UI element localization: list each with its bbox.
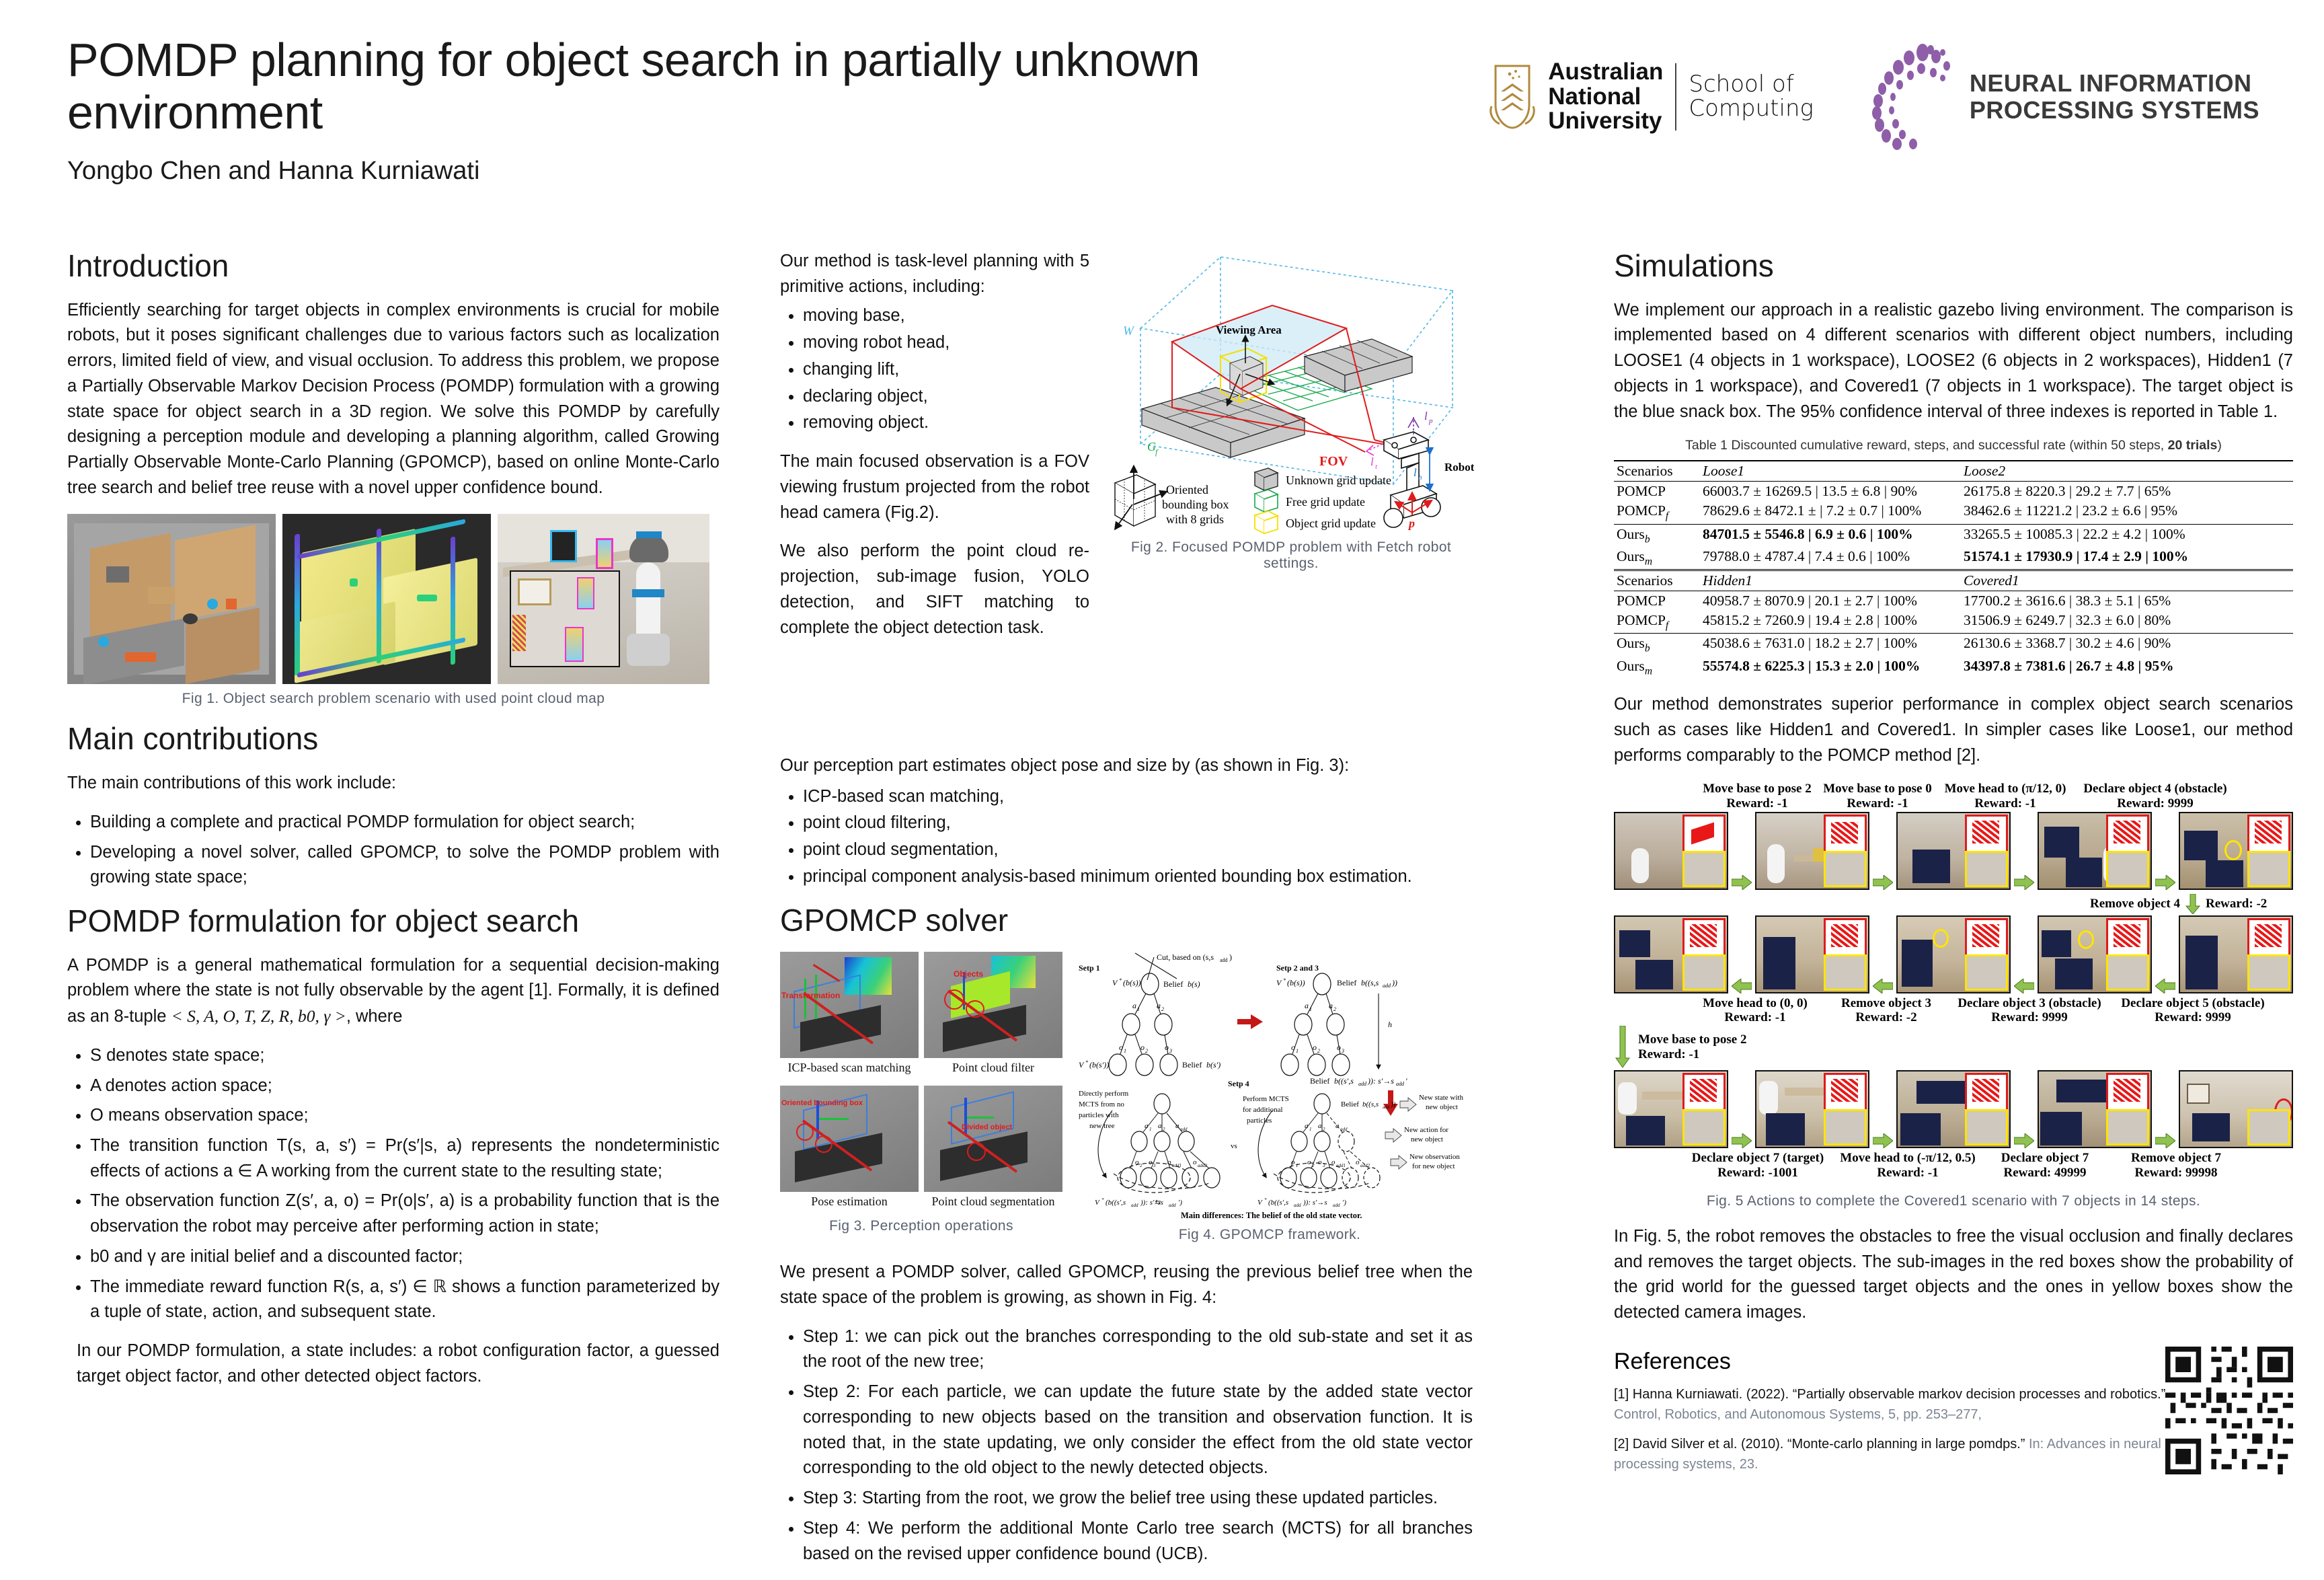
fig2-fov-label: FOV (1319, 454, 1348, 469)
svg-text:′): ′) (1178, 1199, 1182, 1207)
svg-text:p: p (1428, 417, 1433, 425)
belief-grid-inset (1682, 918, 1726, 957)
fig5-frame (1614, 812, 1728, 890)
svg-text:o: o (1140, 1043, 1145, 1052)
neurips-mark-icon (1861, 43, 1962, 151)
camera-image-inset (2106, 851, 2149, 887)
table-1-title: Table 1 Discounted cumulative reward, st… (1614, 438, 2293, 453)
svg-text:3: 3 (1169, 1048, 1172, 1054)
svg-text:o: o (1313, 1043, 1317, 1052)
list-item: moving robot head, (803, 330, 1089, 356)
fig2-obb-line-1: Oriented (1166, 483, 1208, 496)
figure-2-caption: Fig 2. Focused POMDP problem with Fetch … (1103, 539, 1479, 572)
svg-text:o: o (1318, 1158, 1322, 1166)
fig5-frame (1896, 812, 2011, 890)
svg-text:(b(s)): (b(s)) (1287, 978, 1305, 987)
fig5-label-r1c3: Move head to (π/12, 0) Reward: -1 (1935, 782, 2076, 811)
fig4-right-note-2: for additional (1243, 1106, 1283, 1114)
table-row-method: Oursm (1614, 547, 1700, 570)
results-table: Scenarios Loose1 Loose2 POMCP 66003.7 ± … (1614, 460, 2293, 679)
flow-arrow-icon (1732, 979, 1752, 993)
introduction-text: Efficiently searching for target objects… (67, 298, 720, 501)
fig5-row-2 (1614, 915, 2293, 993)
svg-text:o: o (1165, 1043, 1169, 1052)
solver-lead-text: We present a POMDP solver, called GPOMCP… (780, 1260, 1473, 1310)
svg-text:o: o (1193, 1158, 1197, 1166)
camera-image-inset (1965, 954, 2008, 991)
svg-text:add: add (1180, 1127, 1188, 1132)
fig2-obb-line-3: with 8 grids (1166, 513, 1224, 526)
svg-text:o: o (1119, 1043, 1123, 1052)
table-cell: 78629.6 ± 8472.1 ± | 7.2 ± 0.7 | 100% (1700, 501, 1961, 524)
table-row-method: POMCPf (1614, 501, 1700, 524)
list-item: The immediate reward function R(s, a, s′… (90, 1275, 720, 1325)
list-item: point cloud filtering, (803, 811, 1473, 836)
table-header-loose2: Loose2 (1961, 461, 2293, 482)
table-title-a: Table 1 Discounted cumulative reward, st… (1685, 438, 2164, 453)
svg-text:V: V (1112, 978, 1118, 987)
anu-line-2: National (1548, 85, 1663, 109)
svg-text:b(s): b(s) (1188, 979, 1200, 989)
flow-arrow-icon (2014, 1133, 2034, 1148)
fig1-panel-gazebo (67, 514, 276, 684)
figure-5-discussion-text: In Fig. 5, the robot removes the obstacl… (1614, 1224, 2293, 1326)
svg-text:a: a (1305, 1122, 1309, 1130)
flow-arrow-icon (1873, 875, 1893, 890)
camera-image-inset (1682, 851, 1726, 887)
logo-row: Australian National University School of… (1487, 43, 2259, 151)
table-cell: 79788.0 ± 4787.4 | 7.4 ± 0.6 | 100% (1700, 547, 1961, 570)
svg-text:V: V (1257, 1199, 1263, 1207)
figure-1-caption: Fig 1. Object search problem scenario wi… (67, 691, 720, 707)
svg-text:V: V (1095, 1199, 1100, 1207)
svg-text:2: 2 (1312, 1163, 1315, 1168)
table-cell: 33265.5 ± 10085.3 | 22.2 ± 4.2 | 100% (1961, 524, 2293, 547)
list-item: Step 2: For each particle, we can update… (803, 1380, 1473, 1481)
fig5-label-r3c3: Declare object 7 Reward: 49999 (1984, 1151, 2105, 1180)
flow-arrow-icon (1873, 1133, 1893, 1148)
fig5-frame (1755, 812, 1869, 890)
svg-text:a: a (1335, 1122, 1340, 1130)
belief-grid-inset (2247, 918, 2290, 957)
table-header-scenarios-2: Scenarios (1614, 570, 1700, 591)
svg-text:h: h (1418, 474, 1422, 482)
svg-text:(b((s′,s: (b((s′,s (1106, 1199, 1126, 1207)
svg-text:o: o (1291, 1158, 1295, 1166)
svg-text:o: o (1337, 1043, 1341, 1052)
fig3-panel-icp: Transformation (780, 952, 919, 1058)
list-item: declaring object, (803, 384, 1089, 410)
fig5-label-r2c1: Move head to (0, 0) Reward: -1 (1688, 996, 1822, 1025)
table-row-method: POMCP (1614, 591, 1700, 611)
svg-text:o: o (1167, 1158, 1171, 1166)
belief-grid-inset (1824, 815, 1867, 854)
table-cell: 84701.5 ± 5546.8 | 6.9 ± 0.6 | 100% (1700, 524, 1961, 547)
poster-header: POMDP planning for object search in part… (67, 34, 2259, 209)
fig5-frame (2179, 915, 2293, 993)
table-cell: 45038.6 ± 7631.0 | 18.2 ± 2.7 | 100% (1700, 634, 1961, 656)
svg-text:2: 2 (1317, 1048, 1320, 1054)
fig5-frame (1614, 915, 1728, 993)
fig5-label-r2c3: Declare object 3 (obstacle) Reward: 9999 (1950, 996, 2109, 1025)
list-item: b0 and γ are initial belief and a discou… (90, 1244, 720, 1270)
anu-logo: Australian National University School of… (1487, 60, 1814, 133)
svg-text:add: add (1169, 1203, 1176, 1208)
right-column: Simulations We implement our approach in… (1614, 249, 2293, 1484)
fig4-step4-label: Setp 4 (1228, 1079, 1249, 1088)
svg-text:1: 1 (1309, 1006, 1312, 1012)
svg-text:a: a (1145, 1122, 1149, 1130)
svg-text:a: a (1132, 1001, 1136, 1010)
list-item: removing object. (803, 410, 1089, 436)
author-list: Yongbo Chen and Hanna Kurniawati (67, 157, 2259, 186)
pomdp-tuple: < S, A, O, T, Z, R, b0, γ > (171, 1006, 346, 1026)
logo-divider (1675, 63, 1676, 130)
belief-grid-inset (2106, 918, 2149, 957)
svg-text:2: 2 (1163, 1127, 1165, 1132)
fig2-legend-unknown: Unknown grid update (1286, 474, 1391, 487)
list-item: Step 1: we can pick out the branches cor… (803, 1324, 1473, 1375)
belief-grid-inset (1824, 1073, 1867, 1112)
list-item: A denotes action space; (90, 1074, 720, 1099)
table-header-covered1: Covered1 (1961, 570, 2293, 591)
fig2-p-symbol: p (1407, 517, 1415, 530)
fig4-belief-ssadd: Belief (1341, 1100, 1359, 1108)
svg-text:o: o (1331, 1158, 1335, 1166)
anu-school-line-2: Computing (1689, 97, 1814, 121)
fig4-new-state-1: New state with (1419, 1094, 1463, 1102)
svg-text:Belief: Belief (1163, 979, 1183, 989)
svg-text:′): ′) (1342, 1199, 1346, 1207)
camera-image-inset (2247, 1109, 2290, 1145)
svg-text:Belief: Belief (1182, 1060, 1202, 1069)
fig3-label-filter: Point cloud filter (924, 1061, 1062, 1075)
fig5-connector-reward-1: Reward: -2 (2206, 897, 2293, 911)
fig2-obb-line-2: bounding box (1162, 498, 1229, 511)
svg-text:′: ′ (1405, 1076, 1407, 1086)
pomdp-closing-text: In our POMDP formulation, a state includ… (67, 1339, 720, 1389)
list-item: Step 4: We perform the additional Monte … (803, 1516, 1473, 1567)
list-item: The transition function T(s, a, s′) = Pr… (90, 1133, 720, 1184)
svg-text:add: add (1396, 1081, 1405, 1087)
list-item: The observation function Z(s′, a, o) = P… (90, 1189, 720, 1239)
svg-text:add: add (1294, 1203, 1301, 1208)
table-row-method: POMCPf (1614, 611, 1700, 634)
primitive-actions-list: moving base, moving robot head, changing… (780, 303, 1089, 436)
svg-text:2: 2 (1333, 1006, 1336, 1012)
fig3-panel-pose: Oriented bounding box (780, 1086, 919, 1192)
table-cell: 34397.8 ± 7381.6 | 26.7 ± 4.8 | 95% (1961, 656, 2293, 679)
fig5-row-1 (1614, 812, 2293, 890)
fig4-left-note-4: new tree (1089, 1122, 1115, 1130)
fig4-cut-label: Cut, based on (s,s (1157, 952, 1214, 962)
svg-text:1: 1 (1137, 1006, 1140, 1012)
fig5-frame (1755, 1070, 1869, 1148)
table-row-method: POMCP (1614, 482, 1700, 502)
solver-steps-list: Step 1: we can pick out the branches cor… (780, 1324, 1473, 1567)
figure-2-diagram: W Viewing Area G f (1103, 249, 1479, 538)
fig2-world-symbol: W (1123, 324, 1135, 338)
belief-grid-inset (1824, 918, 1867, 957)
svg-text:a: a (1329, 1001, 1333, 1010)
simulation-conclusion-text: Our method demonstrates superior perform… (1614, 692, 2293, 768)
fig3-tag-divided: Divided object (962, 1123, 1012, 1131)
figure-1 (67, 514, 720, 684)
table-row-method: Oursm (1614, 656, 1700, 679)
list-item: S denotes state space; (90, 1043, 720, 1069)
svg-text:): ) (1229, 952, 1232, 962)
table-cell: 66003.7 ± 16269.5 | 13.5 ± 6.8 | 90% (1700, 482, 1961, 502)
simulations-heading: Simulations (1614, 249, 2293, 283)
down-arrow-icon (2185, 894, 2200, 914)
left-column: Introduction Efficiently searching for t… (67, 249, 720, 1403)
svg-text:3: 3 (1322, 1163, 1325, 1168)
perception-pipeline-text: We also perform the point cloud re-proje… (780, 539, 1089, 640)
fig2-robot-label: Robot (1444, 461, 1475, 474)
fig2-legend-free: Free grid update (1286, 495, 1365, 509)
svg-text:add: add (1383, 983, 1391, 989)
svg-text:2: 2 (1140, 1163, 1142, 1168)
svg-text:3: 3 (1341, 1048, 1344, 1054)
svg-text:)): s′→s: )): s′→s (1303, 1199, 1327, 1207)
reference-1-black: [1] Hanna Kurniawati. (2022). “Partially… (1614, 1387, 2165, 1402)
fig4-new-action-1: New action for (1404, 1126, 1448, 1134)
figure-4-diagram: Setp 1 Setp 2 and 3 Setp 4 Cut, based on… (1075, 952, 1465, 1221)
svg-text:add: add (1131, 1203, 1138, 1208)
table-cell: 55574.8 ± 6225.3 | 15.3 ± 2.0 | 100% (1700, 656, 1961, 679)
camera-image-inset (2247, 851, 2290, 887)
list-item: principal component analysis-based minim… (803, 864, 1473, 890)
fig5-label-r3c4: Remove object 7 Reward: 99998 (2109, 1151, 2243, 1180)
belief-grid-inset (1965, 918, 2008, 957)
neurips-logo: NEURAL INFORMATION PROCESSING SYSTEMS (1861, 43, 2259, 151)
fig3-tag-transformation: Transformation (781, 991, 840, 1000)
list-item: point cloud segmentation, (803, 837, 1473, 863)
svg-text:add1: add1 (1172, 1163, 1182, 1168)
fig5-label-r2c2: Remove object 3 Reward: -2 (1826, 996, 1947, 1025)
fig4-main-differences: Main differences: The belief of the old … (1181, 1211, 1362, 1220)
table-cell: 26175.8 ± 8220.3 | 29.2 ± 7.7 | 65% (1961, 482, 2293, 502)
fig5-connector-label-1: Remove object 4 (2090, 897, 2180, 911)
figure-5: Move base to pose 2 Reward: -1 Move base… (1614, 782, 2293, 1209)
svg-text:o: o (1149, 1158, 1153, 1166)
svg-text:b(s′): b(s′) (1206, 1060, 1221, 1069)
pomdp-formulation-heading: POMDP formulation for object search (67, 904, 720, 938)
svg-text:*: * (1119, 977, 1122, 983)
svg-text:*: * (1264, 1197, 1267, 1203)
svg-text:add2: add2 (1198, 1163, 1208, 1168)
belief-grid-inset (2106, 815, 2149, 854)
fig5-frame (1614, 1070, 1728, 1148)
flow-arrow-icon (2014, 875, 2034, 890)
belief-grid-inset (1682, 1073, 1726, 1112)
table-cell: 40958.7 ± 8070.9 | 20.1 ± 2.7 | 100% (1700, 591, 1961, 611)
fig4-new-obs-1: New observation (1409, 1153, 1460, 1161)
svg-text:add2: add2 (1360, 1163, 1370, 1168)
contributions-heading: Main contributions (67, 722, 720, 756)
fig4-left-note-2: MCTS from no (1079, 1100, 1124, 1108)
belief-grid-inset (1682, 815, 1726, 854)
anu-line-1: Australian (1548, 60, 1663, 84)
method-intro-text: Our method is task-level planning with 5… (780, 249, 1089, 299)
camera-image-inset (1965, 851, 2008, 887)
introduction-heading: Introduction (67, 249, 720, 283)
fig4-right-note-1: Perform MCTS (1243, 1095, 1289, 1103)
table-header-hidden1: Hidden1 (1700, 570, 1961, 591)
contributions-list: Building a complete and practical POMDP … (67, 810, 720, 891)
svg-text:*: * (1283, 977, 1286, 983)
svg-text:Belief: Belief (1337, 978, 1356, 987)
svg-text:add: add (1333, 1203, 1340, 1208)
fig4-step1-label: Setp 1 (1079, 963, 1100, 973)
list-item: moving base, (803, 303, 1089, 329)
fig2-lp-symbol: l (1424, 410, 1428, 422)
camera-image-inset (1682, 954, 1726, 991)
reference-2-black: [2] David Silver et al. (2010). “Monte-c… (1614, 1437, 2025, 1452)
camera-image-inset (1682, 1109, 1726, 1145)
svg-text:2: 2 (1161, 1006, 1164, 1012)
svg-text:b((s,s: b((s,s (1361, 978, 1379, 987)
fig4-right-note-3: particles (1247, 1117, 1272, 1125)
table-cell: 17700.2 ± 3616.6 | 38.3 ± 5.1 | 65% (1961, 591, 2293, 611)
gpomcp-solver-heading: GPOMCP solver (780, 903, 1473, 938)
svg-text:b((s,s: b((s,s (1362, 1100, 1379, 1108)
fig2-legend-object: Object grid update (1286, 517, 1376, 530)
camera-image-inset (1824, 954, 1867, 991)
list-item: Building a complete and practical POMDP … (90, 810, 720, 835)
svg-text:(b((s′,s: (b((s′,s (1268, 1199, 1288, 1207)
svg-text:V: V (1276, 978, 1282, 987)
fig5-label-r2c4: Declare object 5 (obstacle) Reward: 9999 (2112, 996, 2274, 1025)
fig2-lh-symbol: l (1413, 466, 1417, 479)
contributions-lead: The main contributions of this work incl… (67, 771, 720, 796)
page-title: POMDP planning for object search in part… (67, 34, 1210, 139)
svg-text:b((s′,s: b((s′,s (1334, 1076, 1354, 1086)
fig5-connector-label-2: Move base to pose 2 Reward: -1 (1638, 1026, 1840, 1061)
table-header-loose1: Loose1 (1700, 461, 1961, 482)
figure-4-caption: Fig 4. GPOMCP framework. (1075, 1227, 1465, 1243)
flow-arrow-icon (1732, 875, 1752, 890)
svg-text:3: 3 (1153, 1163, 1156, 1168)
svg-text:add: add (1340, 1127, 1348, 1132)
flow-arrow-icon (2014, 979, 2034, 993)
qr-code[interactable] (2165, 1347, 2293, 1474)
pomdp-symbol-list: S denotes state space; A denotes action … (67, 1043, 720, 1325)
svg-text:add: add (1220, 957, 1228, 963)
list-item: O means observation space; (90, 1103, 720, 1129)
svg-text:1: 1 (1309, 1127, 1312, 1132)
svg-text:a: a (1175, 1122, 1179, 1130)
svg-text:*: * (1085, 1059, 1088, 1065)
camera-image-inset (2106, 954, 2149, 991)
fig5-label-r1c2: Move base to pose 0 Reward: -1 (1810, 782, 1945, 811)
list-item: Step 3: Starting from the root, we grow … (803, 1486, 1473, 1511)
table-title-trials: 20 trials (2168, 438, 2218, 453)
neurips-line-2: PROCESSING SYSTEMS (1970, 97, 2259, 124)
fig5-frame (1896, 915, 2011, 993)
table-header-scenarios: Scenarios (1614, 461, 1700, 482)
fig4-new-state-2: new object (1426, 1103, 1458, 1111)
fig5-label-r1c4: Declare object 4 (obstacle) Reward: 9999 (2071, 782, 2239, 811)
svg-text:)): s′⇆s: )): s′⇆s (1140, 1199, 1163, 1207)
observation-text: The main focused observation is a FOV vi… (780, 449, 1089, 525)
anu-line-3: University (1548, 109, 1663, 133)
svg-text:o: o (1307, 1158, 1311, 1166)
figure-5-caption: Fig. 5 Actions to complete the Covered1 … (1614, 1193, 2293, 1209)
pomdp-formulation-lead: A POMDP is a general mathematical formul… (67, 953, 720, 1030)
anu-school-line-1: School of (1689, 73, 1814, 97)
table-cell: 45815.2 ± 7260.9 | 19.4 ± 2.8 | 100% (1700, 611, 1961, 634)
table-cell: 26130.6 ± 3368.7 | 30.2 ± 4.6 | 90% (1961, 634, 2293, 656)
fig1-panel-robot (498, 514, 709, 684)
svg-text:2: 2 (1145, 1048, 1148, 1054)
poster-canvas: POMDP planning for object search in part… (0, 0, 2324, 1550)
list-item: ICP-based scan matching, (803, 784, 1473, 810)
fig3-label-pose: Pose estimation (780, 1195, 919, 1209)
camera-image-inset (1824, 1109, 1867, 1145)
svg-text:)): )) (1391, 978, 1397, 987)
anu-crest-icon (1487, 62, 1537, 132)
fig5-frame (2179, 812, 2293, 890)
fig5-label-r3c2: Move head to (-π/12, 0.5) Reward: -1 (1834, 1151, 1981, 1180)
table-row-method: Oursb (1614, 524, 1700, 547)
table-row-method: Oursb (1614, 634, 1700, 656)
svg-text:1: 1 (1124, 1048, 1126, 1054)
fig3-panel-segmentation: Divided object (924, 1086, 1062, 1192)
perception-steps-list: ICP-based scan matching, point cloud fil… (780, 784, 1473, 890)
table-cell: 51574.1 ± 17930.9 | 17.4 ± 2.9 | 100% (1961, 547, 2293, 570)
svg-text:o: o (1291, 1043, 1295, 1052)
flow-arrow-icon (2155, 979, 2175, 993)
simulations-text: We implement our approach in a realistic… (1614, 298, 2293, 425)
list-item: Developing a novel solver, called GPOMCP… (90, 840, 720, 891)
flow-arrow-icon (1873, 979, 1893, 993)
belief-grid-inset (2106, 1073, 2149, 1112)
table-cell: 38462.6 ± 11221.2 | 23.2 ± 6.6 | 95% (1961, 501, 2293, 524)
camera-image-inset (1965, 1109, 2008, 1145)
flow-arrow-icon (2155, 1133, 2175, 1148)
svg-text:o: o (1135, 1158, 1139, 1166)
svg-text:t: t (1375, 463, 1378, 471)
fig5-frame (1755, 915, 1869, 993)
figure-3: Transformation ICP-based scan matching (780, 952, 1062, 1249)
fig4-left-note-1: Directly perform (1079, 1090, 1129, 1098)
fig5-frame (2038, 1070, 2152, 1148)
svg-text:a: a (1305, 1001, 1309, 1010)
neurips-line-1: NEURAL INFORMATION (1970, 70, 2259, 97)
belief-grid-inset (1965, 1073, 2008, 1112)
svg-text:(b(s′)): (b(s′)) (1089, 1060, 1109, 1069)
flow-arrow-icon (1732, 1133, 1752, 1148)
middle-column: Our method is task-level planning with 5… (780, 249, 1473, 1580)
fig5-frame (2038, 812, 2152, 890)
fig4-step23-label: Setp 2 and 3 (1276, 963, 1319, 973)
table-cell: 31506.9 ± 6249.7 | 32.3 ± 6.0 | 80% (1961, 611, 2293, 634)
svg-text:(b(s)): (b(s)) (1123, 978, 1141, 987)
svg-text:V: V (1079, 1060, 1085, 1069)
fig3-tag-objects: Objects (954, 969, 983, 979)
svg-text:a: a (1157, 1001, 1161, 1010)
fig2-viewing-area-label: Viewing Area (1216, 324, 1282, 336)
fig5-frame (2038, 915, 2152, 993)
svg-text:add: add (1383, 1104, 1390, 1110)
figure-4: Setp 1 Setp 2 and 3 Setp 4 Cut, based on… (1075, 952, 1465, 1221)
belief-grid-inset (1965, 815, 2008, 854)
figure-3-caption: Fig 3. Perception operations (780, 1218, 1062, 1234)
fig4-new-action-2: new object (1411, 1135, 1443, 1143)
belief-grid-inset (2247, 815, 2290, 854)
fig5-frame (2179, 1070, 2293, 1148)
